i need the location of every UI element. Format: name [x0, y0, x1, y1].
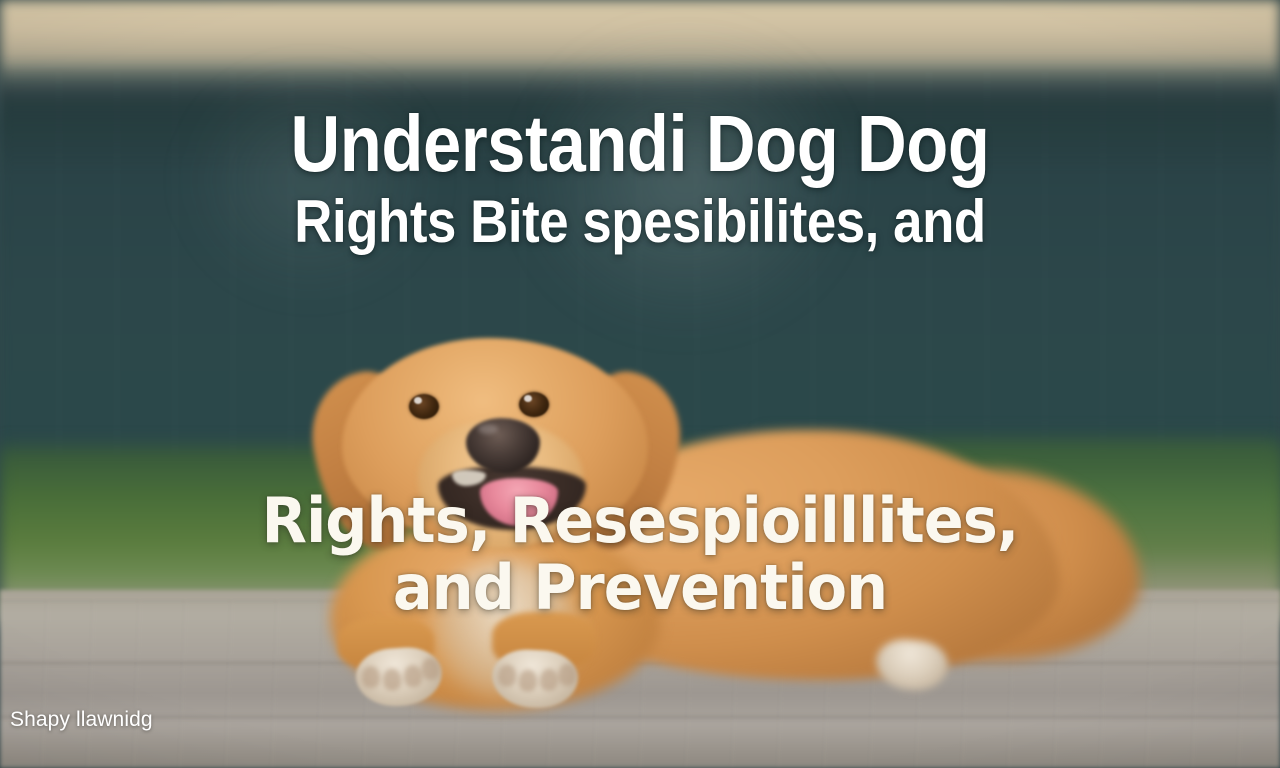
dog-nose-highlight — [478, 424, 498, 434]
dog-eye-highlight-left — [414, 397, 422, 404]
headline-top-line2: Rights Bite spesibilites, and — [77, 192, 1203, 252]
paw-toe — [421, 657, 440, 680]
headline-lower-line1: Rights, Resespioilllites, — [32, 488, 1248, 555]
paw-toe — [361, 665, 380, 688]
headline-top: Understandi Dog Dog Rights Bite spesibil… — [0, 104, 1280, 252]
infographic-banner: Understandi Dog Dog Rights Bite spesibil… — [0, 0, 1280, 768]
paw-toe — [382, 668, 401, 691]
dog-eye-highlight-right — [524, 395, 532, 402]
headline-lower-line2: and Prevention — [32, 555, 1248, 622]
watermark-label: Shapy llawnidg — [10, 708, 153, 732]
paw-toe — [558, 663, 577, 686]
paw-toe — [403, 664, 422, 687]
paw-toe — [518, 669, 537, 692]
pavement-seam — [0, 716, 1280, 718]
headline-top-line1: Understandi Dog Dog — [90, 104, 1191, 192]
dog-eye-left — [409, 394, 439, 419]
dog-eye-right — [519, 392, 549, 417]
paw-toe — [498, 664, 517, 687]
headline-lower: Rights, Resespioilllites, and Prevention — [0, 488, 1280, 622]
paw-toe — [539, 668, 558, 691]
